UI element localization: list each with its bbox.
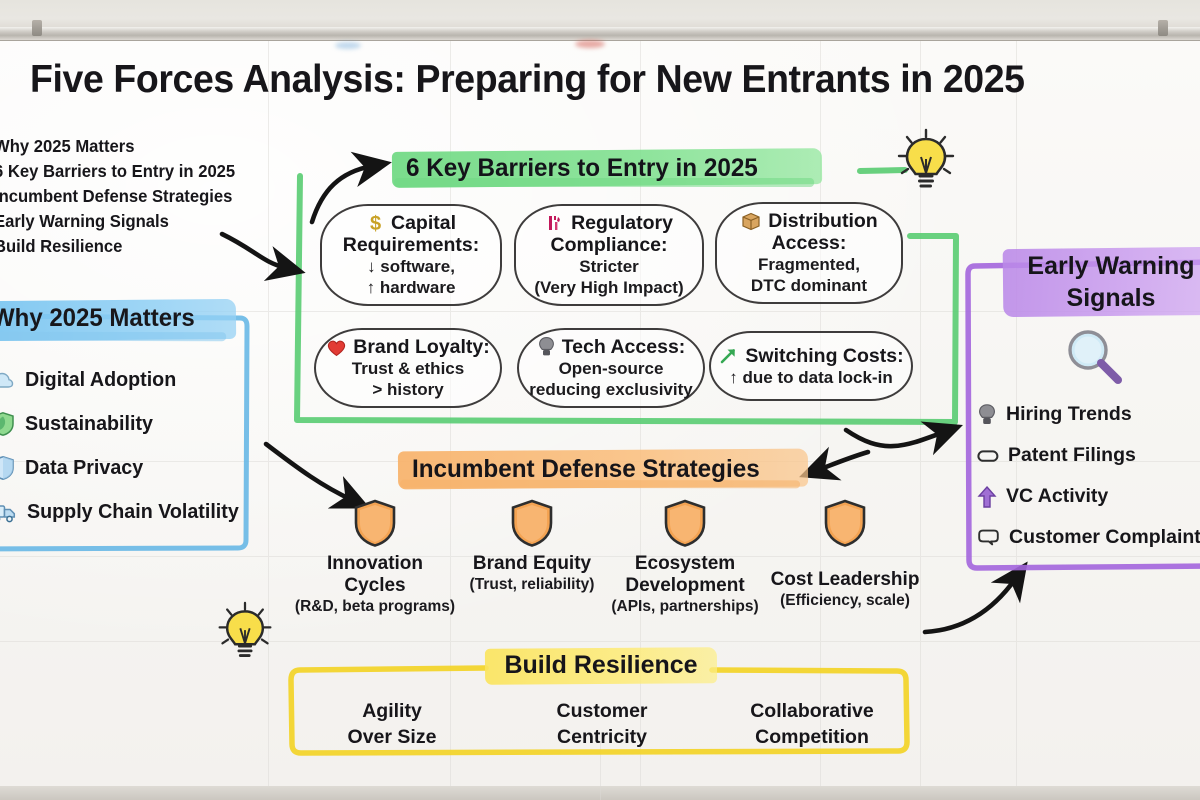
incumbent-heading: Incumbent Defense Strategies [412, 455, 760, 484]
resilience-line-2: Competition [707, 724, 917, 750]
barrier-card-brand-loyalty[interactable]: Brand Loyalty: Trust & ethics > history [314, 328, 502, 408]
barriers-heading: 6 Key Barriers to Entry in 2025 [406, 154, 758, 183]
early-heading-line-2: Signals [1067, 284, 1156, 312]
defense-item-name-2: Cycles [290, 575, 460, 597]
early-item-patent-filings[interactable]: Patent Filings [977, 435, 1200, 476]
resilience-columns: Agility Over Size Customer Centricity Co… [287, 698, 917, 750]
why-item-sustainability[interactable]: Sustainability [0, 402, 248, 446]
lightbulb-gray-icon [537, 336, 556, 358]
whiteboard-top-rail [0, 27, 1200, 41]
resilience-heading: Build Resilience [485, 651, 717, 680]
resilience-line-1: Agility [287, 698, 497, 724]
resilience-column-collaborative-competition[interactable]: Collaborative Competition [707, 698, 917, 750]
barrier-line-1: Regulatory [571, 212, 673, 234]
early-item-label: Hiring Trends [1006, 403, 1132, 426]
why-item-data-privacy[interactable]: Data Privacy [0, 446, 248, 490]
defense-item-name-2: Development [604, 575, 766, 597]
agenda-item[interactable]: Early Warning Signals [0, 209, 251, 234]
early-warning-list: Hiring Trends Patent Filings VC Activity… [977, 394, 1200, 558]
resilience-line-1: Collaborative [707, 698, 917, 724]
barrier-line-3: Trust & ethics [352, 358, 464, 379]
barrier-line-1: Brand Loyalty: [353, 336, 490, 358]
barrier-line-4: > history [372, 379, 443, 400]
barrier-line-1: Switching Costs: [745, 345, 903, 367]
agenda-item[interactable]: Incumbent Defense Strategies [0, 184, 251, 209]
early-heading: Early Warning Signals [1011, 250, 1200, 314]
dollar-icon: $ [366, 212, 385, 234]
heart-icon [326, 338, 347, 357]
why-item-label: Sustainability [25, 412, 153, 436]
defense-item-brand-equity[interactable]: Brand Equity (Trust, reliability) [452, 498, 612, 594]
early-warning-panel: Early Warning Signals Hiring Trends Pate… [963, 248, 1200, 573]
agenda-list: Why 2025 Matters 6 Key Barriers to Entry… [0, 134, 264, 259]
barrier-line-2: Access: [772, 232, 847, 254]
barrier-line-1: Tech Access: [562, 336, 686, 358]
board-smudge-blue [335, 42, 361, 49]
leaf-shield-icon [0, 411, 16, 437]
defense-item-sub: (Trust, reliability) [452, 575, 612, 594]
shield-icon [352, 498, 398, 548]
shield-icon [0, 455, 16, 481]
defense-item-ecosystem-development[interactable]: Ecosystem Development (APIs, partnership… [604, 498, 766, 616]
defense-item-sub: (APIs, partnerships) [604, 597, 766, 616]
resilience-line-2: Over Size [287, 724, 497, 750]
barrier-line-4: ↑ hardware [367, 277, 456, 298]
barrier-card-capital-requirements[interactable]: $ Capital Requirements: ↓ software, ↑ ha… [320, 204, 502, 306]
barrier-line-3: Fragmented, [758, 254, 860, 275]
why-item-label: Digital Adoption [25, 368, 176, 392]
barrier-card-distribution-access[interactable]: Distribution Access: Fragmented, DTC dom… [715, 202, 903, 304]
early-item-label: Customer Complaints [1009, 526, 1200, 549]
incumbent-defense-panel: Incumbent Defense Strategies [398, 450, 818, 492]
lightbulb-gray-icon [977, 403, 997, 427]
barrier-line-1: Distribution [768, 210, 877, 232]
barrier-line-3: ↓ software, [367, 256, 455, 277]
board-clip-left [32, 20, 42, 36]
agenda-item[interactable]: Build Resilience [0, 234, 251, 259]
lightbulb-icon [893, 126, 959, 198]
early-item-hiring-trends[interactable]: Hiring Trends [977, 394, 1200, 435]
package-icon [740, 211, 762, 231]
barrier-line-3: Stricter [579, 256, 639, 277]
why-item-label: Data Privacy [25, 456, 143, 480]
defense-item-name: Ecosystem [604, 553, 766, 575]
early-heading-line-1: Early Warning [1027, 252, 1194, 280]
early-item-label: VC Activity [1006, 485, 1108, 508]
barrier-line-4: DTC dominant [751, 275, 867, 296]
barriers-panel: 6 Key Barriers to Entry in 2025 $ Capita… [292, 148, 957, 423]
whiteboard: Five Forces Analysis: Preparing for New … [0, 0, 1200, 800]
agenda-item[interactable]: 6 Key Barriers to Entry in 2025 [0, 159, 251, 184]
barrier-line-4: (Very High Impact) [534, 277, 683, 298]
resilience-column-agility[interactable]: Agility Over Size [287, 698, 497, 750]
capsule-icon [977, 448, 999, 464]
early-item-vc-activity[interactable]: VC Activity [977, 476, 1200, 517]
barrier-card-switching-costs[interactable]: Switching Costs: ↑ due to data lock-in [709, 331, 913, 401]
magnifier-icon [1061, 326, 1127, 388]
defense-item-name: Cost Leadership [760, 569, 930, 591]
svg-text:$: $ [370, 213, 381, 234]
scales-icon [545, 213, 565, 233]
why-item-label: Supply Chain Volatility [27, 500, 239, 524]
why-item-supply-chain[interactable]: Supply Chain Volatility [0, 490, 248, 534]
defense-item-sub: (R&D, beta programs) [290, 597, 460, 616]
resilience-line-1: Customer [497, 698, 707, 724]
resilience-line-2: Centricity [497, 724, 707, 750]
barrier-card-regulatory-compliance[interactable]: Regulatory Compliance: Stricter (Very Hi… [514, 204, 704, 306]
board-clip-right [1158, 20, 1168, 36]
resilience-column-customer-centricity[interactable]: Customer Centricity [497, 698, 707, 750]
barrier-line-3: ↑ due to data lock-in [729, 367, 892, 388]
page-title: Five Forces Analysis: Preparing for New … [30, 58, 1134, 102]
defense-item-sub: (Efficiency, scale) [760, 591, 930, 610]
build-resilience-panel: Build Resilience Agility Over Size Custo… [287, 648, 917, 758]
trend-up-icon [718, 346, 739, 366]
speech-bubble-icon [977, 529, 1000, 547]
defense-item-name: Brand Equity [452, 553, 612, 575]
shield-icon [509, 498, 555, 548]
why-2025-matters-panel: Why 2025 Matters Digital Adoption Sustai… [0, 300, 244, 550]
early-item-customer-complaints[interactable]: Customer Complaints [977, 517, 1200, 558]
why-heading: Why 2025 Matters [0, 304, 195, 333]
defense-item-cost-leadership[interactable]: Cost Leadership (Efficiency, scale) [760, 498, 930, 610]
board-smudge-red [575, 40, 605, 48]
barrier-line-1: Capital [391, 212, 456, 234]
shield-icon [662, 498, 708, 548]
lightbulb-icon [214, 598, 276, 668]
barrier-line-4: reducing exclusivity [529, 379, 692, 400]
why-list: Digital Adoption Sustainability Data Pri… [0, 358, 248, 534]
truck-icon [0, 500, 18, 524]
cloud-icon [0, 368, 16, 392]
shield-icon [822, 498, 868, 548]
defense-item-name: Innovation [290, 553, 460, 575]
barrier-line-2: Compliance: [550, 234, 667, 256]
why-item-digital-adoption[interactable]: Digital Adoption [0, 358, 248, 402]
early-item-label: Patent Filings [1008, 444, 1136, 467]
barrier-line-3: Open-source [559, 358, 664, 379]
arrow-up-purple-icon [977, 485, 997, 509]
agenda-item[interactable]: Why 2025 Matters [0, 134, 251, 159]
barrier-card-tech-access[interactable]: Tech Access: Open-source reducing exclus… [517, 328, 705, 408]
defense-item-innovation-cycles[interactable]: Innovation Cycles (R&D, beta programs) [290, 498, 460, 616]
barrier-line-2: Requirements: [343, 234, 480, 256]
